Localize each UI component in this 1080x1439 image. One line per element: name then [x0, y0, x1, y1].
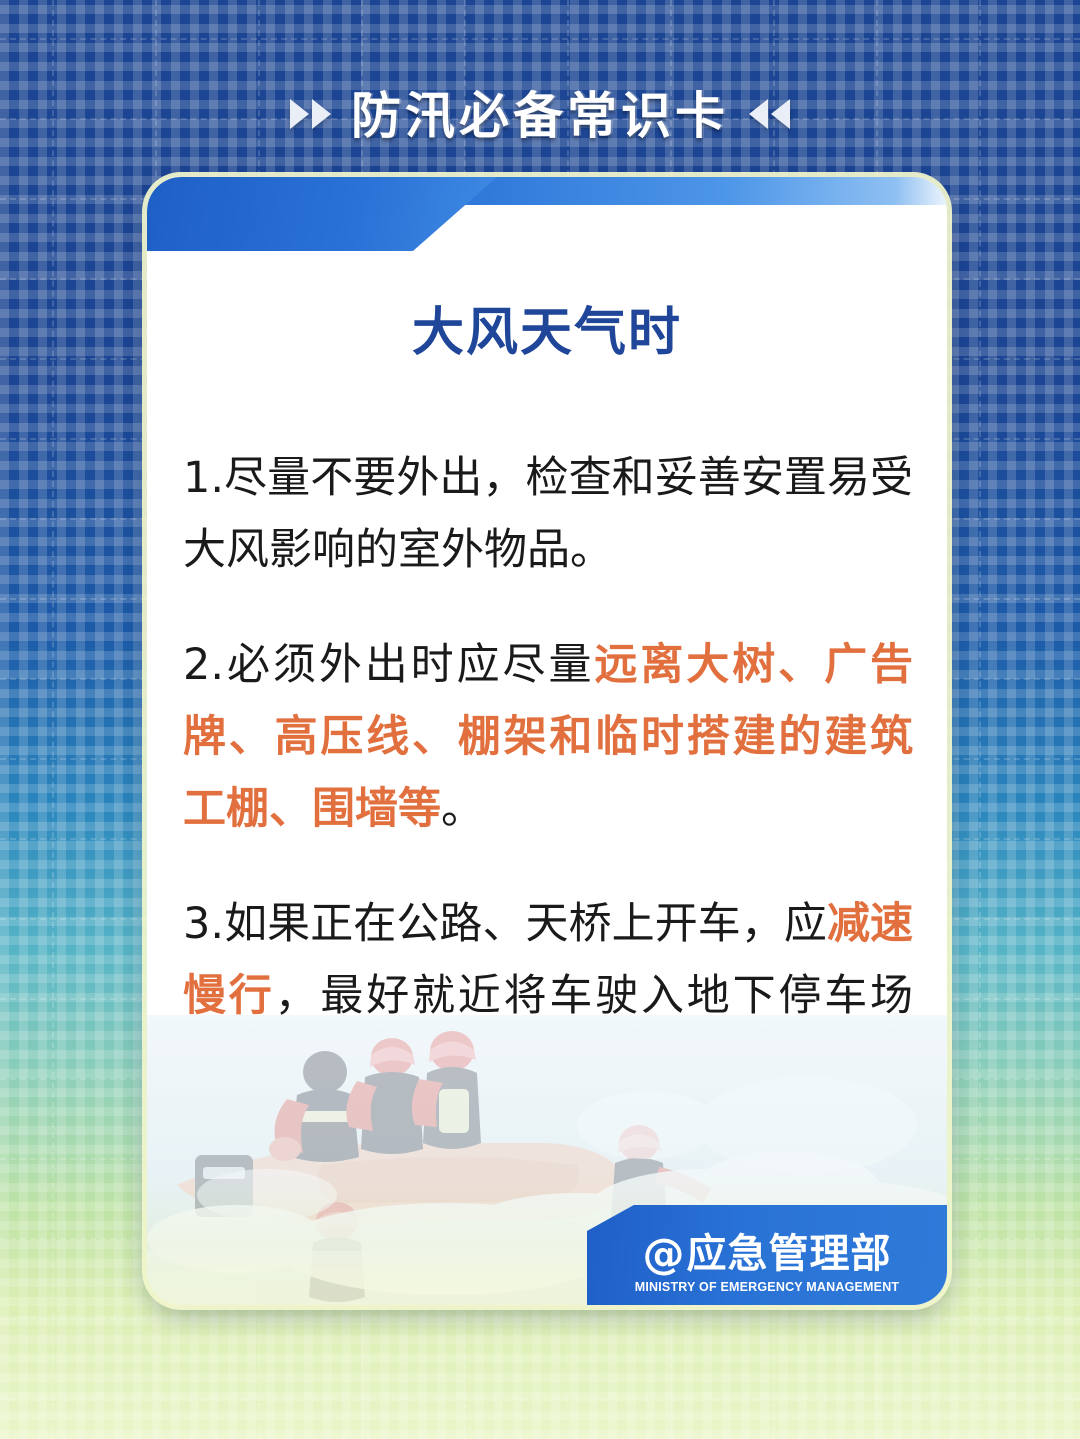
card-heading: 大风天气时 — [147, 290, 947, 365]
double-right-triangle-icon — [290, 99, 331, 129]
tip-number: 2. — [183, 640, 224, 690]
tip-text: 如果正在公路、天桥上开车，应 — [224, 899, 827, 949]
tip-text: 必须外出时应尽量 — [224, 640, 594, 690]
info-card: 大风天气时 1.尽量不要外出，检查和妥善安置易受大风影响的室外物品。 2.必须外… — [147, 177, 947, 1305]
tip-text: 尽量不要外出，检查和妥善安置易受大风影响的室外物品。 — [183, 453, 913, 575]
poster-title-bar: 防汛必备常识卡 — [0, 76, 1080, 148]
logo-name-cn: 应急管理部 — [687, 1234, 892, 1274]
logo-name-en: MINISTRY OF EMERGENCY MANAGEMENT — [635, 1280, 900, 1294]
tip-number: 3. — [183, 899, 224, 949]
card-banner-tail — [447, 177, 947, 205]
tip-text: 。 — [441, 784, 484, 834]
logo-name-row: @ 应急管理部 — [643, 1233, 892, 1275]
list-item: 2.必须外出时应尽量远离大树、广告牌、高压线、棚架和临时搭建的建筑工棚、围墙等。 — [183, 629, 913, 845]
double-left-triangle-icon — [749, 99, 790, 129]
list-item: 1.尽量不要外出，检查和妥善安置易受大风影响的室外物品。 — [183, 442, 913, 586]
at-symbol-icon: @ — [643, 1233, 685, 1275]
poster-root: 防汛必备常识卡 大风天气时 1.尽量不要外出，检查和妥善安置易受大风影响的室外物… — [0, 0, 1080, 1439]
card-banner-accent — [147, 177, 497, 251]
ministry-logo: @ 应急管理部 MINISTRY OF EMERGENCY MANAGEMENT — [587, 1205, 947, 1305]
page-title: 防汛必备常识卡 — [351, 76, 729, 148]
tip-number: 1. — [183, 453, 224, 503]
